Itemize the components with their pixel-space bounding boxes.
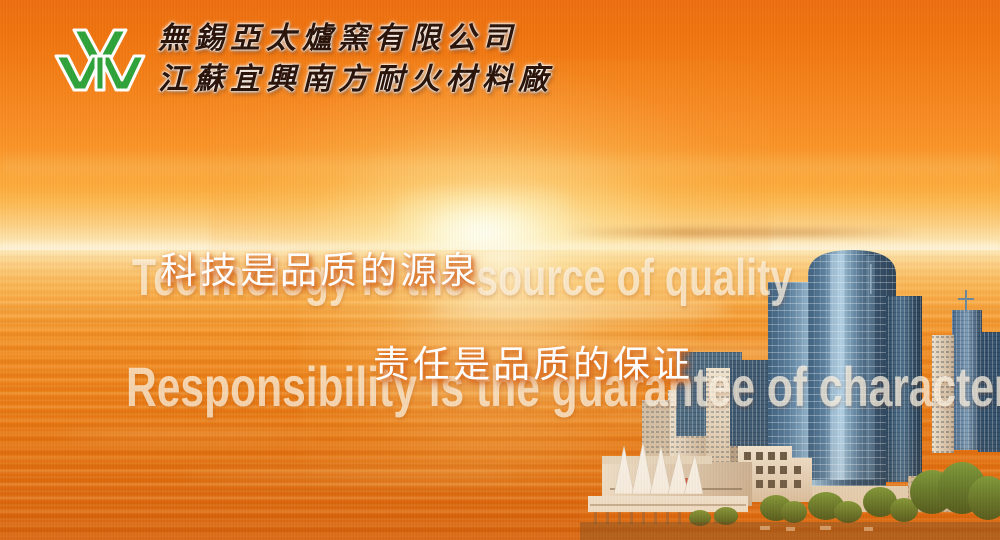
slogan-chinese-quality: 科技是品质的源泉: [160, 240, 480, 294]
water-glint: [60, 430, 320, 440]
company-name-line-1: 無錫亞太爐窯有限公司: [158, 18, 678, 59]
company-name-block: 無錫亞太爐窯有限公司 江蘇宜興南方耐火材料廠: [158, 18, 678, 100]
water-glint: [180, 470, 520, 480]
cloud-streak: [560, 228, 920, 237]
company-logo-icon[interactable]: [52, 26, 148, 96]
slogan-chinese-responsibility: 责任是品质的保证: [373, 334, 693, 388]
banner-stage: Technology is the source of quality 科技是品…: [0, 0, 1000, 540]
company-name-line-2: 江蘇宜興南方耐火材料廠: [158, 59, 678, 100]
banner-header: 無錫亞太爐窯有限公司 江蘇宜興南方耐火材料廠: [0, 0, 1000, 118]
